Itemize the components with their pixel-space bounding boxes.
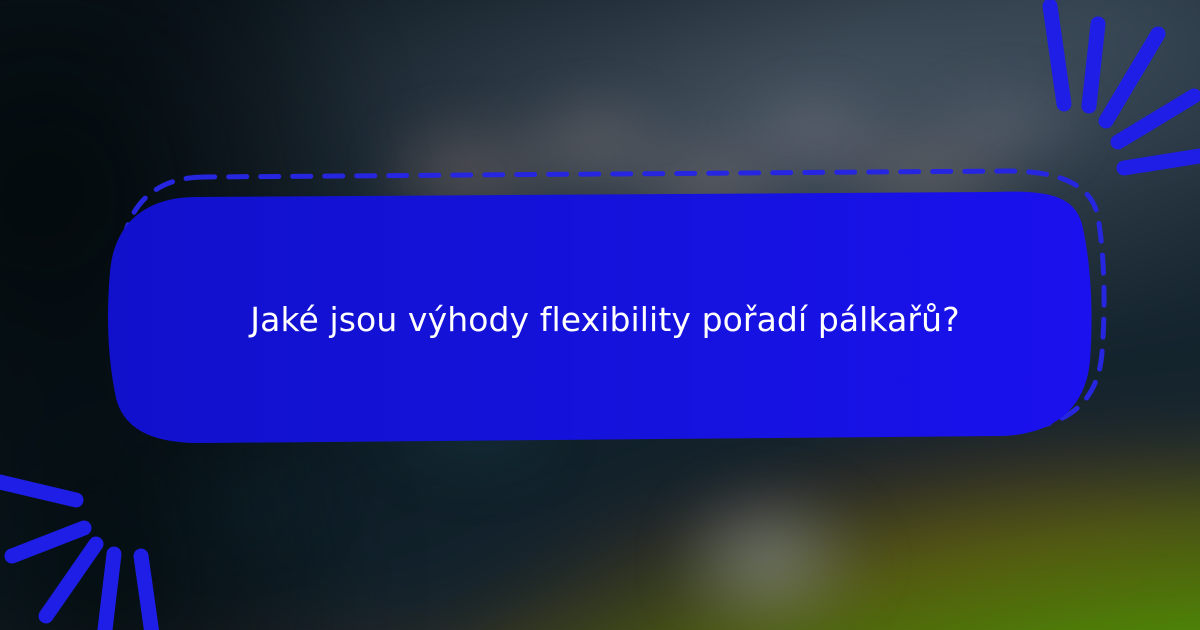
burst-ray-3 [1106,34,1158,121]
burst-ray-2 [1089,24,1098,106]
burst-rays-bottom-left [0,482,154,630]
burst-ray-1 [1050,6,1064,104]
burst-ray-3 [46,544,96,616]
sparkle-burst-bottom-left [0,462,196,630]
social-card: Jaké jsou výhody flexibility pořadí pálk… [0,0,1200,630]
burst-ray-1 [0,482,76,500]
burst-ray-4 [1118,96,1194,142]
burst-ray-5 [1124,154,1200,168]
sparkle-burst-top-right [1006,0,1200,166]
burst-ray-2 [12,528,84,556]
bubble-question-text: Jaké jsou výhody flexibility pořadí pálk… [140,200,1070,440]
burst-ray-5 [141,556,154,630]
background-gray-seats [672,466,912,630]
burst-ray-4 [104,554,114,630]
burst-rays-top-right [1050,6,1200,168]
